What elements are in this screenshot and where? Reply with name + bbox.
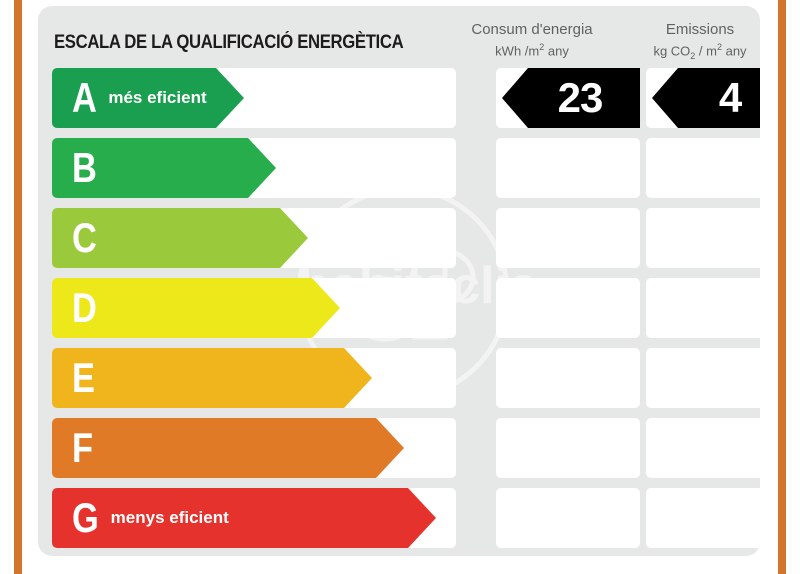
emission-cell-b	[646, 138, 760, 198]
rating-letter-g: G	[72, 497, 99, 539]
rating-row-d: D	[38, 278, 760, 338]
rating-row-c: C	[38, 208, 760, 268]
right-orange-rule	[778, 0, 786, 574]
rating-bar-a[interactable]: Amés eficient	[52, 68, 244, 128]
column-header-emissions-unit: kg CO2 / m2 any	[625, 41, 760, 62]
energy-cell-e	[496, 348, 640, 408]
energy-cell-b	[496, 138, 640, 198]
column-header-emissions-title: Emissions	[625, 20, 760, 41]
rating-bar-f[interactable]: F	[52, 418, 404, 478]
energy-cell-f	[496, 418, 640, 478]
energy-label-panel: habitaclia ESCALA DE LA QUALIFICACIÓ ENE…	[38, 6, 760, 556]
rating-row-f: F	[38, 418, 760, 478]
rating-caption-a: més eficient	[108, 88, 206, 108]
label-header: ESCALA DE LA QUALIFICACIÓ ENERGÈTICA Con…	[38, 6, 760, 68]
rating-bar-d[interactable]: D	[52, 278, 340, 338]
rating-letter-d: D	[72, 287, 97, 329]
rating-letter-a: A	[72, 77, 97, 119]
emission-cell-c	[646, 208, 760, 268]
energy-value-badge-a: 23	[502, 68, 640, 128]
rating-row-g: Gmenys eficient	[38, 488, 760, 548]
rating-letter-f: F	[72, 427, 93, 469]
column-header-energy: Consum d'energia kWh /m2 any	[457, 20, 607, 60]
emission-cell-g	[646, 488, 760, 548]
page-title: ESCALA DE LA QUALIFICACIÓ ENERGÈTICA	[54, 32, 403, 54]
column-header-energy-unit: kWh /m2 any	[457, 41, 607, 60]
energy-cell-g	[496, 488, 640, 548]
energy-value-a: 23	[540, 77, 603, 119]
rating-caption-g: menys eficient	[111, 508, 229, 528]
rating-bar-b[interactable]: B	[52, 138, 276, 198]
left-orange-rule	[14, 0, 22, 574]
rating-row-e: E	[38, 348, 760, 408]
emission-value-a: 4	[701, 77, 741, 119]
rating-bar-g[interactable]: Gmenys eficient	[52, 488, 436, 548]
rating-bar-e[interactable]: E	[52, 348, 372, 408]
rating-row-a: Amés eficient234	[38, 68, 760, 128]
column-header-emissions: Emissions kg CO2 / m2 any	[625, 20, 760, 62]
rating-letter-e: E	[72, 357, 95, 399]
rating-letter-b: B	[72, 147, 97, 189]
rating-bar-c[interactable]: C	[52, 208, 308, 268]
emission-cell-e	[646, 348, 760, 408]
emission-cell-f	[646, 418, 760, 478]
energy-cell-d	[496, 278, 640, 338]
rating-rows: Amés eficient234BCDEFGmenys eficient	[38, 68, 760, 556]
energy-cell-c	[496, 208, 640, 268]
rating-letter-c: C	[72, 217, 97, 259]
emission-cell-d	[646, 278, 760, 338]
rating-row-b: B	[38, 138, 760, 198]
column-header-energy-title: Consum d'energia	[457, 20, 607, 41]
